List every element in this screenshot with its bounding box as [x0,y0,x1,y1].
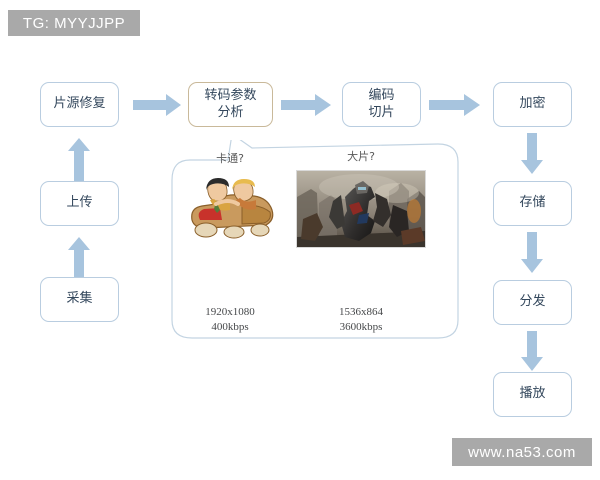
flow-node-encrypt[interactable]: 加密 [493,82,572,127]
arrow-storage-to-distribute [521,232,543,273]
spec-cartoon: 1920x1080 400kbps [185,305,275,335]
flow-node-storage[interactable]: 存储 [493,181,572,226]
arrow-encode-to-encrypt [429,94,480,116]
arrow-capture-to-upload [68,237,90,281]
flow-node-transcode-param-analysis[interactable]: 转码参数 分析 [188,82,273,127]
diagram-canvas: TG: MYYJJPP www.na53.com [0,0,600,480]
spec-blockbuster: 1536x864 3600kbps [316,305,406,335]
flow-node-capture[interactable]: 采集 [40,277,119,322]
arrow-distribute-to-playback [521,331,543,371]
blockbuster-thumbnail-transformers [296,170,426,248]
flow-node-playback[interactable]: 播放 [493,372,572,417]
branch-question-cartoon: 卡通? [200,150,260,166]
arrow-encrypt-to-storage [521,133,543,174]
arrow-source-repair-to-analysis [133,94,181,116]
flow-node-upload[interactable]: 上传 [40,181,119,226]
flow-node-source-repair[interactable]: 片源修复 [40,82,119,127]
arrow-analysis-to-encode [281,94,331,116]
cartoon-thumbnail-flintstones [186,168,278,248]
branch-question-blockbuster: 大片? [331,148,391,164]
flow-node-encode-slice[interactable]: 编码 切片 [342,82,421,127]
arrow-upload-to-source-repair [68,138,90,182]
flow-node-distribute[interactable]: 分发 [493,280,572,325]
